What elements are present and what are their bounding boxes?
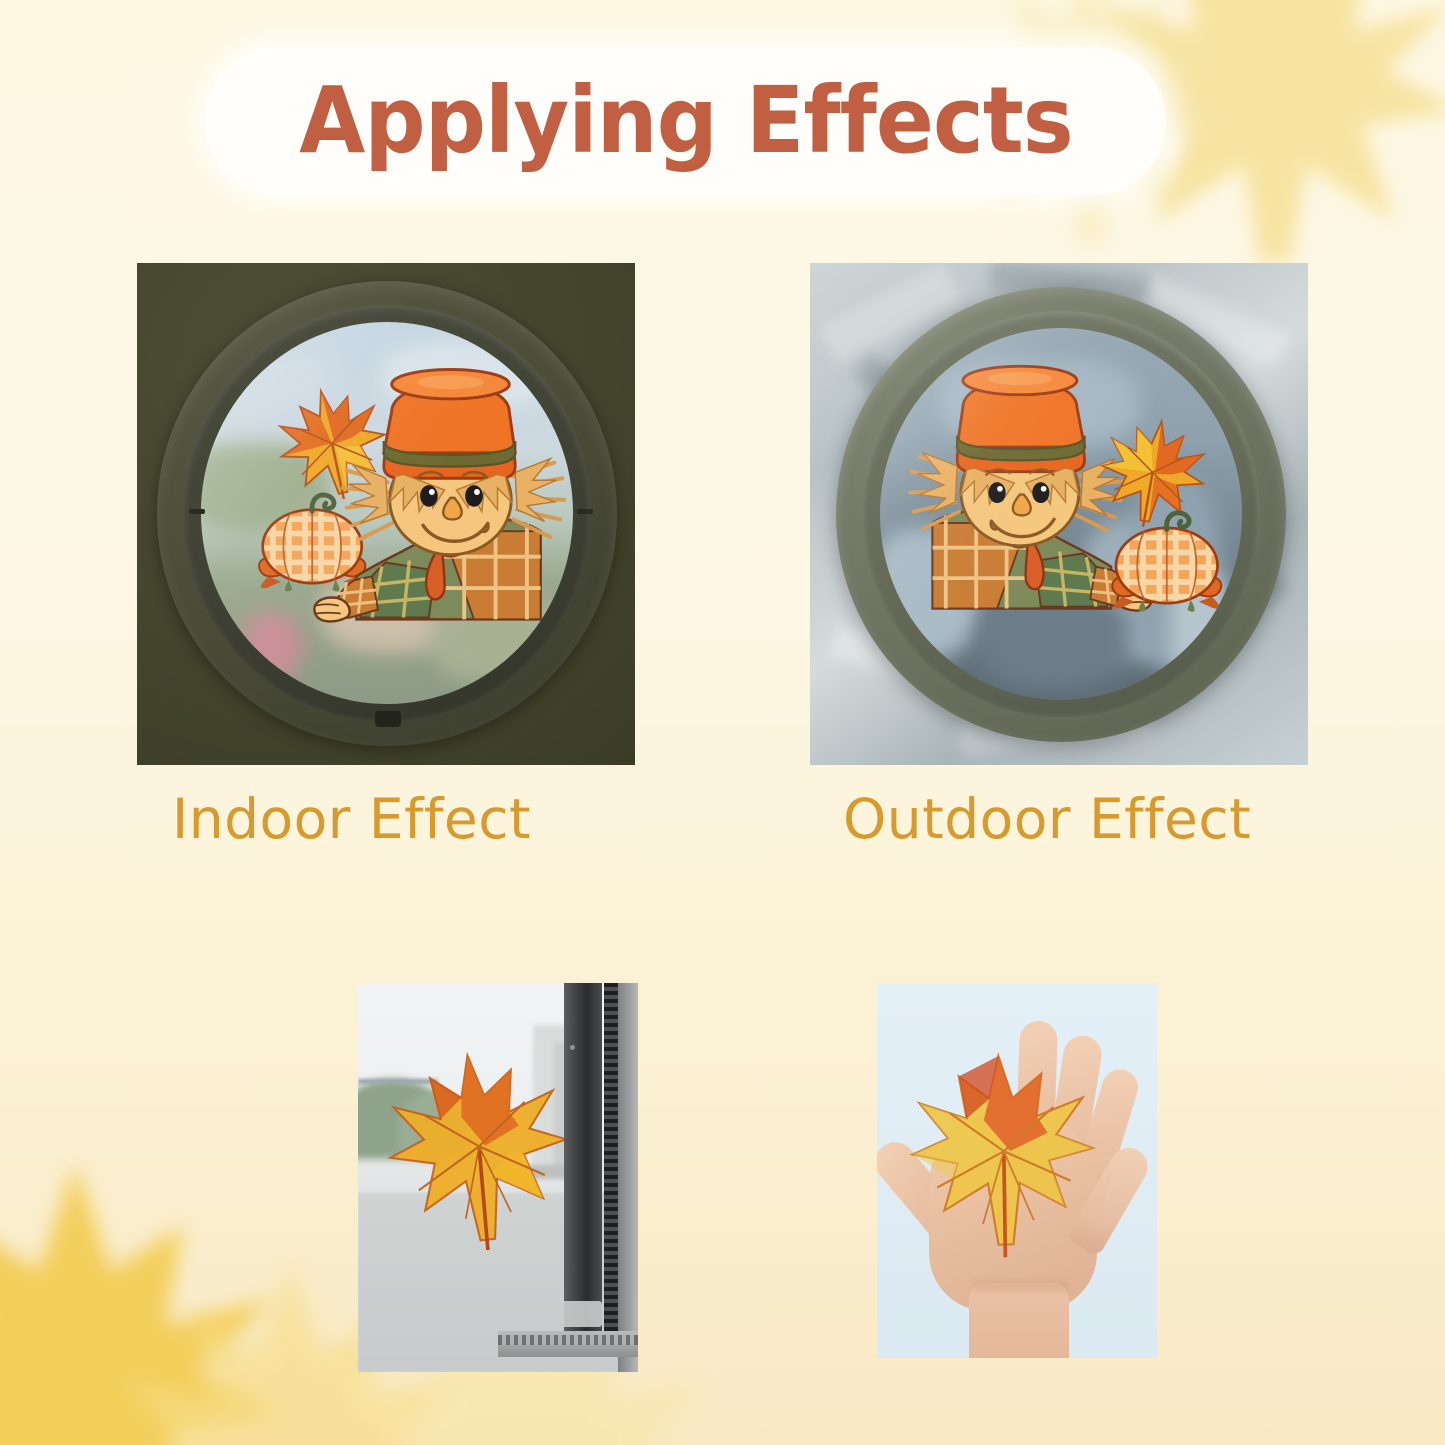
window-hinge <box>577 509 593 514</box>
maple-leaf-icon <box>0 1145 310 1445</box>
window-hinge <box>189 509 205 514</box>
plaid-pumpkin-decal <box>1112 513 1221 612</box>
window-glass <box>880 328 1242 700</box>
page-title: Applying Effects <box>299 75 1073 167</box>
window-frame <box>564 983 602 1345</box>
scarecrow-decal <box>910 366 1152 610</box>
indoor-effect-photo <box>137 263 635 765</box>
frame-label <box>556 1301 602 1327</box>
leaf-on-window-photo <box>358 983 638 1372</box>
window-glass <box>201 322 573 704</box>
title-banner: Applying Effects <box>206 47 1166 195</box>
outdoor-effect-caption: Outdoor Effect <box>843 787 1251 851</box>
poster-canvas: Applying Effects <box>0 0 1445 1445</box>
window-weather-strip <box>604 983 618 1331</box>
scarecrow-decal <box>314 370 564 622</box>
leaf-in-hand-photo <box>877 983 1157 1358</box>
sill-track <box>498 1335 638 1345</box>
outdoor-effect-photo <box>810 263 1308 765</box>
plaid-pumpkin-decal <box>259 495 365 592</box>
window-latch <box>375 711 401 727</box>
frame-screw <box>570 1045 575 1050</box>
window-frame-outer <box>618 983 638 1372</box>
indoor-effect-caption: Indoor Effect <box>172 787 531 851</box>
